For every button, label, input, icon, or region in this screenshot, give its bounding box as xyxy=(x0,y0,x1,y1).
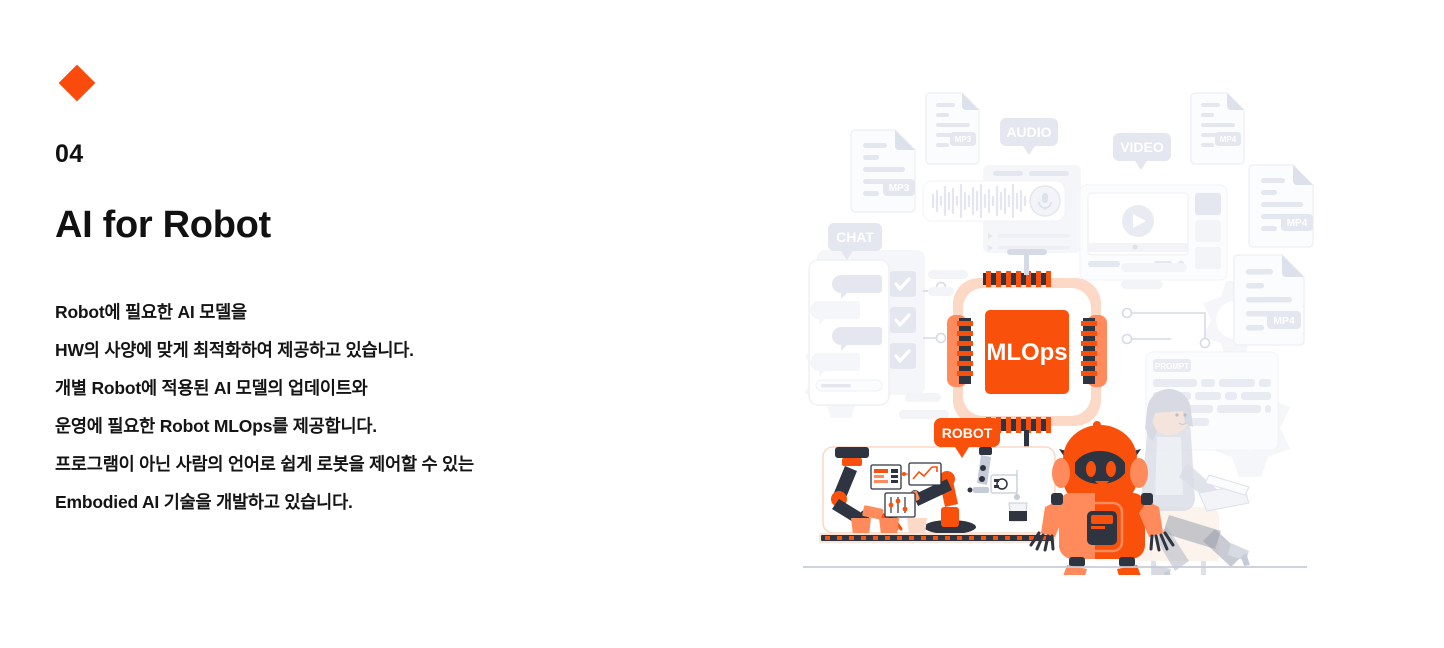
description-block: Robot에 필요한 AI 모델을 HW의 사양에 맞게 최적화하여 제공하고 … xyxy=(55,293,755,521)
audio-panel xyxy=(923,165,1081,253)
chip-pins-right xyxy=(1081,315,1107,387)
robot-badge-label: ROBOT xyxy=(942,425,993,441)
document-icon-mp3: MP3 xyxy=(851,130,915,212)
conveyor-products xyxy=(851,518,927,535)
description-line: 개별 Robot에 적용된 AI 모델의 업데이트와 xyxy=(55,369,755,407)
chip-label: MLOps xyxy=(986,339,1067,366)
file-badge-label: MP3 xyxy=(955,135,972,144)
chat-panel xyxy=(809,250,925,405)
audio-badge: AUDIO xyxy=(1000,118,1058,155)
diamond-bullet-icon xyxy=(59,65,96,102)
chat-badge-label: CHAT xyxy=(836,229,874,245)
document-icon-mp4: MP4 xyxy=(1191,93,1244,164)
file-badge-label: MP3 xyxy=(889,183,910,194)
video-badge: VIDEO xyxy=(1113,133,1171,170)
document-icon-mp3: MP3 xyxy=(926,93,979,164)
mlops-chip: MLOps xyxy=(947,271,1107,433)
document-icon-mp4: MP4 xyxy=(1234,255,1304,345)
chip-pins-top xyxy=(983,271,1051,287)
description-line: HW의 사양에 맞게 최적화하여 제공하고 있습니다. xyxy=(55,331,755,369)
content-column: 04 AI for Robot Robot에 필요한 AI 모델을 HW의 사양… xyxy=(55,70,755,521)
chip-pins-left xyxy=(947,315,973,387)
description-line: Robot에 필요한 AI 모델을 xyxy=(55,293,755,331)
factory-panel xyxy=(819,447,1055,543)
file-badge-label: MP4 xyxy=(1220,135,1237,144)
section-number: 04 xyxy=(55,142,755,167)
file-badge-label: MP4 xyxy=(1287,218,1308,229)
robot-eye-left xyxy=(1086,461,1096,477)
description-line: 운영에 필요한 Robot MLOps를 제공합니다. xyxy=(55,407,755,445)
robot-eye-right xyxy=(1106,461,1116,477)
description-line: Embodied AI 기술을 개발하고 있습니다. xyxy=(55,483,755,521)
audio-badge-label: AUDIO xyxy=(1006,124,1051,140)
prompt-badge-label: PROMPT xyxy=(1155,362,1189,371)
conveyor-belt xyxy=(819,533,1055,543)
page-title: AI for Robot xyxy=(55,206,755,244)
file-badge-label: MP4 xyxy=(1273,315,1295,327)
description-line: 프로그램이 아닌 사람의 언어로 쉽게 로봇을 제어할 수 있는 xyxy=(55,445,755,483)
video-badge-label: VIDEO xyxy=(1120,139,1164,155)
illustration-svg: MP3 MP3 MP4 xyxy=(795,75,1315,575)
document-icon-mp4: MP4 xyxy=(1249,165,1313,247)
mlops-robot-illustration: MP3 MP3 MP4 xyxy=(795,75,1315,575)
checkbox-list xyxy=(890,271,916,369)
